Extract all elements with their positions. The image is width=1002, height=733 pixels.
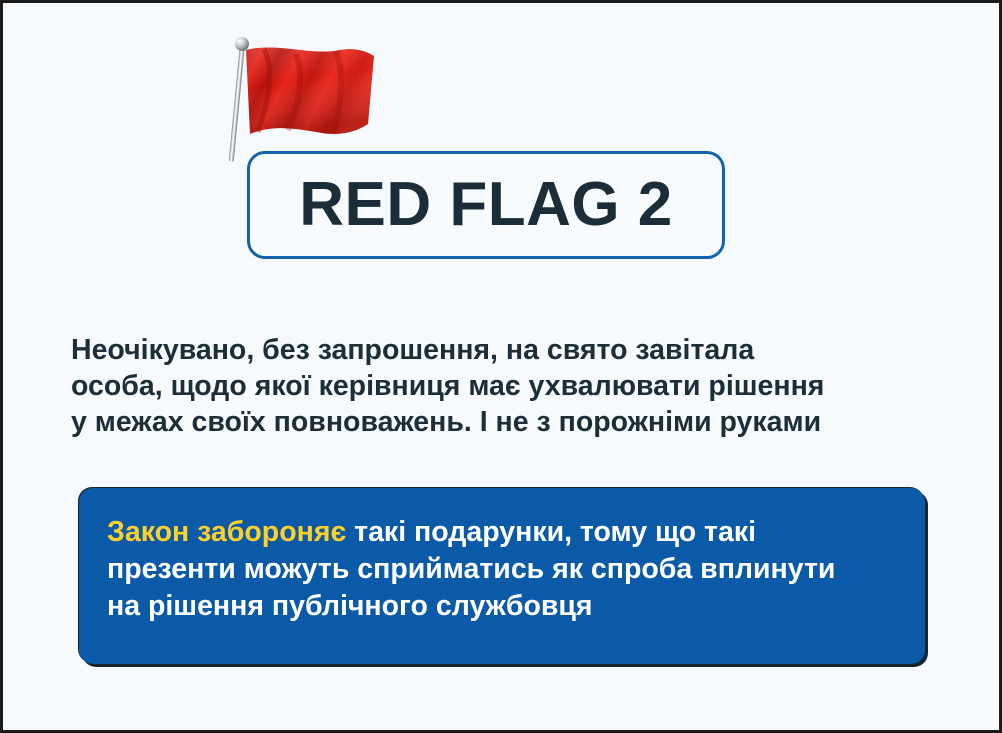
callout-line-3: на рішення публічного службовця <box>107 588 907 625</box>
body-line-3: у межах своїх повноважень. І не з порожн… <box>71 404 951 440</box>
callout-line-1-rest: такі подарунки, тому що такі <box>346 516 756 548</box>
slide-canvas: RED FLAG 2 Неочікувано, без запрошення, … <box>0 0 1002 733</box>
callout-line-1: Закон забороняє такі подарунки, тому що … <box>107 514 907 551</box>
red-flag-icon <box>209 35 377 163</box>
body-line-3-rest: І не з порожніми руками <box>472 406 821 438</box>
callout-paragraph: Закон забороняє такі подарунки, тому що … <box>107 514 907 625</box>
page-title: RED FLAG 2 <box>299 174 673 236</box>
body-paragraph: Неочікувано, без запрошення, на свято за… <box>71 332 951 440</box>
law-callout-box: Закон забороняє такі подарунки, тому що … <box>79 488 925 664</box>
red-flag-title-box: RED FLAG 2 <box>247 151 725 259</box>
flag-pole <box>229 44 245 162</box>
flag-cloth <box>244 46 376 141</box>
callout-highlight: Закон забороняє <box>107 516 346 548</box>
body-line-3-bold: у межах своїх повноважень. <box>71 406 472 438</box>
body-line-2: особа, щодо якої керівниця має ухвалюват… <box>71 368 951 404</box>
body-line-1: Неочікувано, без запрошення, на свято за… <box>71 332 951 368</box>
callout-line-2: презенти можуть сприйматись як спроба вп… <box>107 551 907 588</box>
flag-finial-icon <box>235 37 249 51</box>
